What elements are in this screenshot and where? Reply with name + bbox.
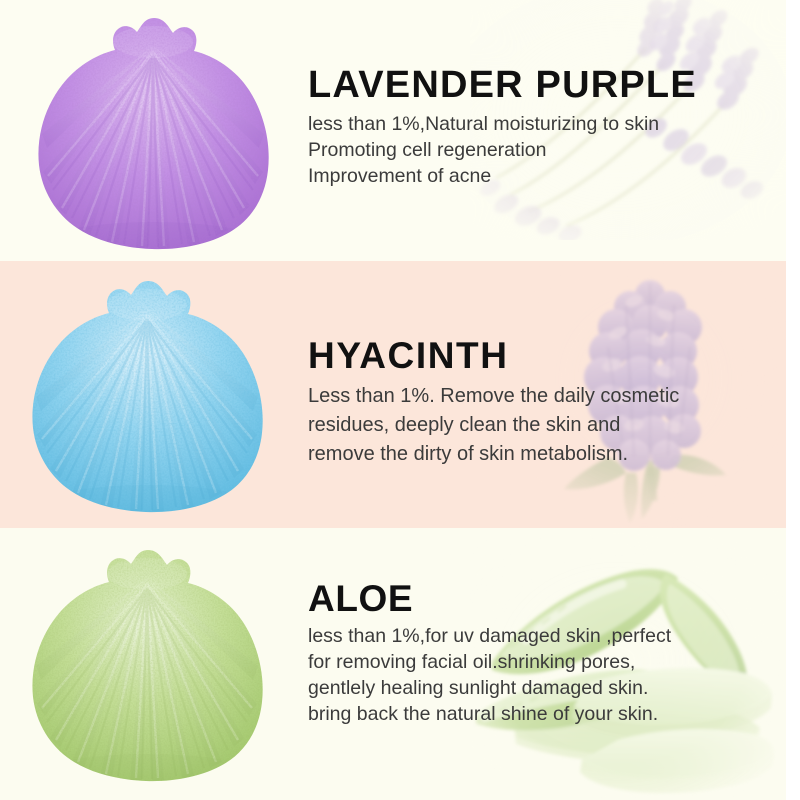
hyacinth-description-line: Less than 1%. Remove the daily cosmetic (308, 382, 679, 411)
hyacinth-description-line: residues, deeply clean the skin and (308, 411, 679, 440)
lavender-description-line: Improvement of acne (308, 163, 697, 189)
aloe-description-line: less than 1%,for uv damaged skin ,perfec… (308, 623, 671, 649)
heading-aloe: ALOE (308, 580, 671, 617)
lavender-description-list: less than 1%,Natural moisturizing to ski… (308, 111, 697, 189)
hyacinth-description-list: Less than 1%. Remove the daily cosmetic … (308, 382, 679, 469)
panel-aloe: ALOE less than 1%,for uv damaged skin ,p… (0, 528, 786, 800)
aloe-copy-block: ALOE less than 1%,for uv damaged skin ,p… (308, 580, 671, 727)
lavender-copy-block: LAVENDER PURPLE less than 1%,Natural moi… (308, 66, 697, 189)
hyacinth-copy-block: HYACINTH Less than 1%. Remove the daily … (308, 337, 679, 469)
aloe-description-line: for removing facial oil.shrinking pores, (308, 649, 671, 675)
product-infographic: LAVENDER PURPLE less than 1%,Natural moi… (0, 0, 800, 800)
blue-hyacinth-konjac-sponge (26, 275, 271, 513)
heading-hyacinth: HYACINTH (308, 337, 679, 374)
aloe-description-list: less than 1%,for uv damaged skin ,perfec… (308, 623, 671, 727)
heading-lavender-purple: LAVENDER PURPLE (308, 66, 697, 104)
aloe-description-line: gentlely healing sunlight damaged skin. (308, 675, 671, 701)
panel-hyacinth: HYACINTH Less than 1%. Remove the daily … (0, 261, 786, 528)
lavender-purple-konjac-sponge (32, 12, 277, 250)
panel-lavender-purple: LAVENDER PURPLE less than 1%,Natural moi… (0, 0, 786, 261)
lavender-description-line: Promoting cell regeneration (308, 137, 697, 163)
aloe-description-line: bring back the natural shine of your ski… (308, 701, 671, 727)
green-aloe-konjac-sponge (26, 544, 271, 782)
right-edge-strip (786, 0, 800, 800)
hyacinth-description-line: remove the dirty of skin metabolism. (308, 440, 679, 469)
lavender-description-line: less than 1%,Natural moisturizing to ski… (308, 111, 697, 137)
